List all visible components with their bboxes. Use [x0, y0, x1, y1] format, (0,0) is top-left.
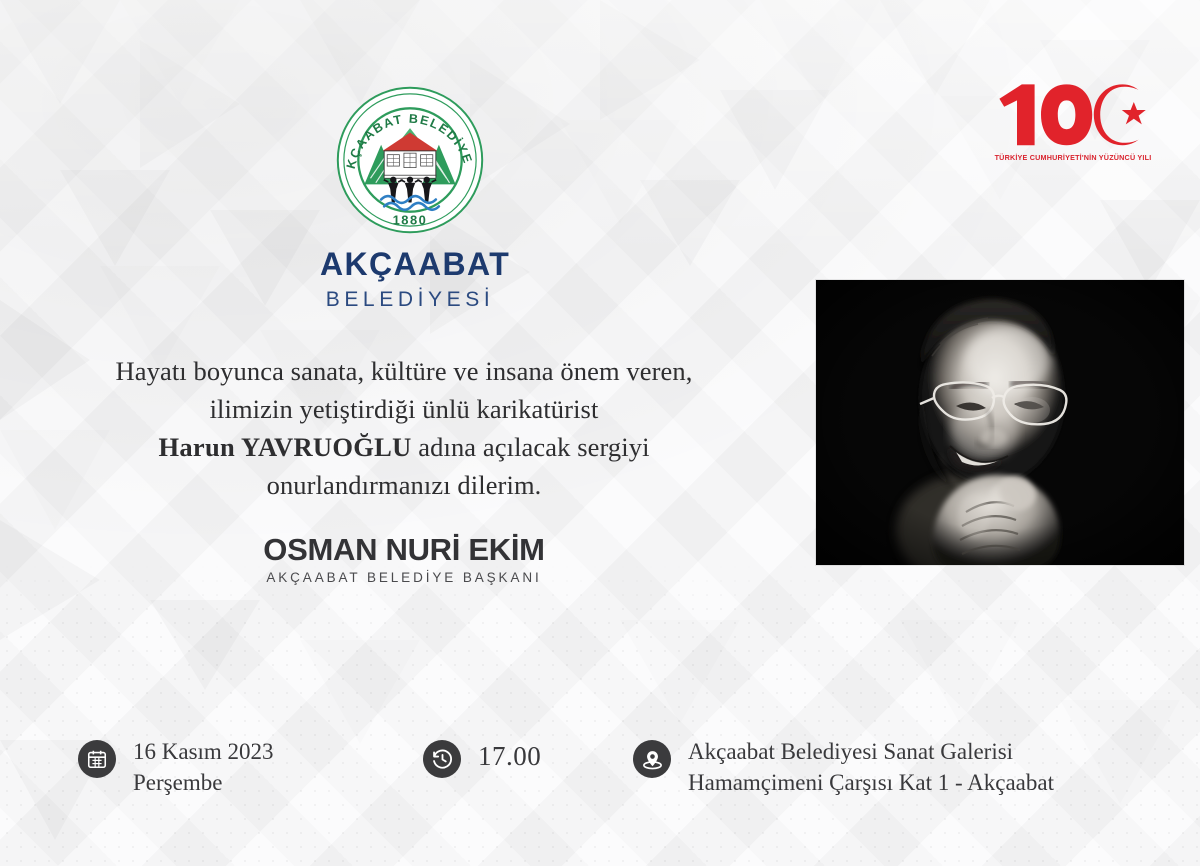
event-location-line-1: Akçaabat Belediyesi Sanat Galerisi: [688, 739, 1013, 764]
event-location-line-2: Hamamçimeni Çarşısı Kat 1 - Akçaabat: [688, 770, 1054, 795]
event-date-item: 16 Kasım 2023 Perşembe: [78, 736, 274, 798]
svg-text:1880: 1880: [393, 213, 428, 228]
honoree-name: Harun YAVRUOĞLU: [158, 432, 411, 462]
event-time-text: 17.00: [478, 736, 541, 776]
event-time-item: 17.00: [423, 736, 541, 778]
event-invitation-poster: AKÇAABAT BELEDİYESİ: [0, 0, 1200, 866]
invitation-line-3: Harun YAVRUOĞLU adına açılacak sergiyi: [34, 428, 774, 466]
turkey-100th-year-logo: TÜRKİYE CUMHURİYETİ'NİN YÜZÜNCÜ YILI: [988, 78, 1158, 162]
anniversary-caption: TÜRKİYE CUMHURİYETİ'NİN YÜZÜNCÜ YILI: [988, 153, 1158, 162]
event-details-bar: 16 Kasım 2023 Perşembe 17.00: [0, 726, 1200, 836]
signatory-title: AKÇAABAT BELEDİYE BAŞKANI: [34, 571, 774, 585]
event-date-line-2: Perşembe: [133, 770, 222, 795]
signature-block: OSMAN NURİ EKİM AKÇAABAT BELEDİYE BAŞKAN…: [34, 534, 774, 585]
event-location-text: Akçaabat Belediyesi Sanat Galerisi Hamam…: [688, 736, 1054, 798]
invitation-line-3-rest: adına açılacak sergiyi: [412, 432, 650, 462]
invitation-line-4: onurlandırmanızı dilerim.: [34, 466, 774, 504]
brand-name-secondary: BELEDİYESİ: [320, 289, 500, 310]
brand-name-primary: AKÇAABAT: [320, 248, 500, 280]
event-location-item: Akçaabat Belediyesi Sanat Galerisi Hamam…: [633, 736, 1054, 798]
signatory-name: OSMAN NURİ EKİM: [34, 534, 774, 565]
calendar-icon: [78, 740, 116, 778]
invitation-line-2: ilimizin yetiştirdiği ünlü karikatürist: [34, 390, 774, 428]
akcaabat-municipality-seal-icon: AKÇAABAT BELEDİYESİ: [320, 84, 500, 236]
location-pin-icon: [633, 740, 671, 778]
municipality-brand-block: AKÇAABAT BELEDİYESİ: [320, 84, 500, 310]
portrait-photo: [816, 280, 1184, 565]
event-date-text: 16 Kasım 2023 Perşembe: [133, 736, 274, 798]
clock-icon: [423, 740, 461, 778]
event-date-line-1: 16 Kasım 2023: [133, 739, 274, 764]
invitation-text: Hayatı boyunca sanata, kültüre ve insana…: [34, 352, 774, 504]
invitation-line-1: Hayatı boyunca sanata, kültüre ve insana…: [34, 352, 774, 390]
